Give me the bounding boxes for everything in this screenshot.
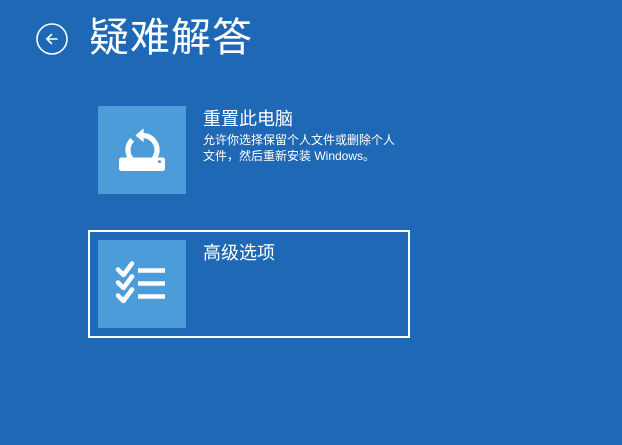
back-arrow-circle-icon	[35, 22, 69, 56]
option-advanced-options[interactable]: 高级选项	[88, 230, 410, 338]
advanced-options-checklist-icon	[112, 255, 172, 313]
option-text-block: 重置此电脑 允许你选择保留个人文件或删除个人文件，然后重新安装 Windows。	[186, 106, 400, 164]
reset-pc-icon	[112, 121, 172, 179]
recovery-screen: 疑难解答 重置此电脑	[0, 0, 622, 445]
option-icon-tile	[98, 106, 186, 194]
page-title: 疑难解答	[89, 11, 253, 65]
option-title: 重置此电脑	[203, 107, 400, 131]
option-icon-tile	[98, 240, 186, 328]
option-text-block: 高级选项	[186, 240, 400, 266]
page-header: 疑难解答	[0, 0, 622, 86]
option-title: 高级选项	[203, 241, 400, 265]
back-button[interactable]	[33, 20, 71, 58]
options-list: 重置此电脑 允许你选择保留个人文件或删除个人文件，然后重新安装 Windows。	[88, 96, 410, 338]
option-description: 允许你选择保留个人文件或删除个人文件，然后重新安装 Windows。	[203, 132, 400, 164]
option-reset-this-pc[interactable]: 重置此电脑 允许你选择保留个人文件或删除个人文件，然后重新安装 Windows。	[88, 96, 410, 204]
